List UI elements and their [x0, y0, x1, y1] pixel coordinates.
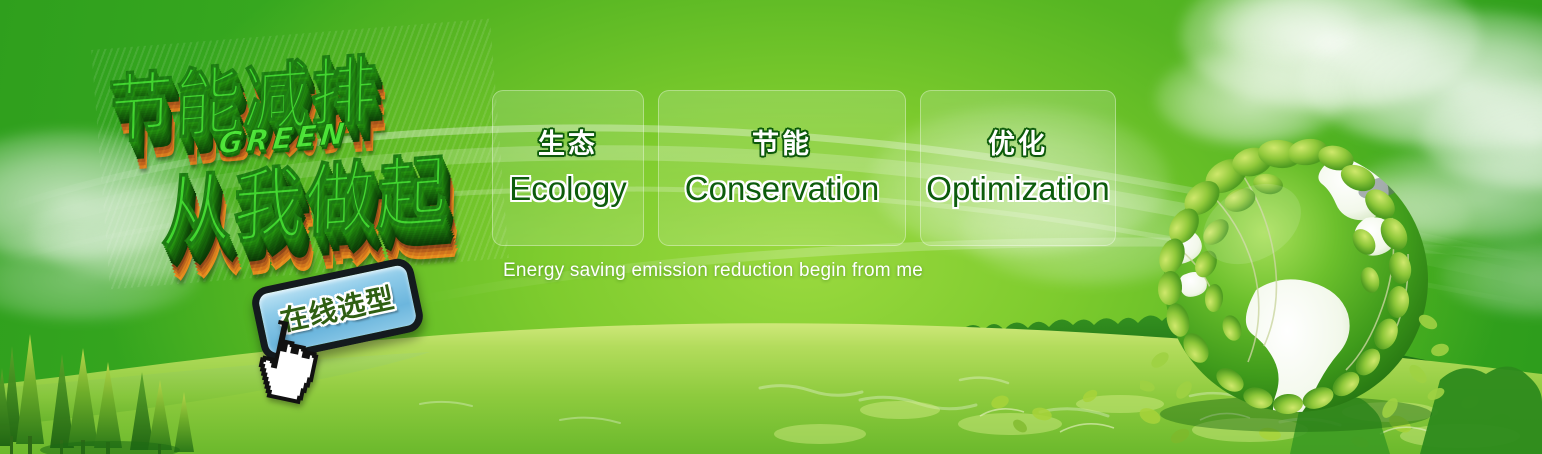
green-energy-banner: 节能减排 GREEN 从我做起 生态 Ecology 节能 Conservati…: [0, 0, 1542, 454]
feature-card-en-label: Conservation: [685, 172, 879, 205]
headline-3d-text: 节能减排 GREEN 从我做起: [91, 19, 509, 290]
pine-trees-icon: [0, 324, 220, 454]
tagline: Energy saving emission reduction begin f…: [503, 260, 923, 282]
feature-card-en-label: Optimization: [926, 172, 1109, 205]
feature-cards: 生态 Ecology 节能 Conservation 优化 Optimizati…: [492, 90, 1116, 246]
clouds-icon: [1210, 0, 1360, 60]
leafy-earth-globe-icon: [1140, 122, 1452, 434]
headline-line-3: 从我做起: [160, 128, 450, 264]
feature-card-cn-label: 节能: [752, 131, 812, 158]
pointing-hand-cursor-icon: [234, 310, 335, 415]
clouds-icon: [1180, 0, 1480, 110]
feature-card-optimization[interactable]: 优化 Optimization: [920, 90, 1116, 246]
feature-card-ecology[interactable]: 生态 Ecology: [492, 90, 644, 246]
feature-card-cn-label: 生态: [538, 131, 598, 158]
clouds-icon: [1440, 235, 1542, 315]
feature-card-cn-label: 优化: [988, 131, 1048, 158]
feature-card-en-label: Ecology: [509, 172, 626, 205]
feature-card-conservation[interactable]: 节能 Conservation: [658, 90, 906, 246]
